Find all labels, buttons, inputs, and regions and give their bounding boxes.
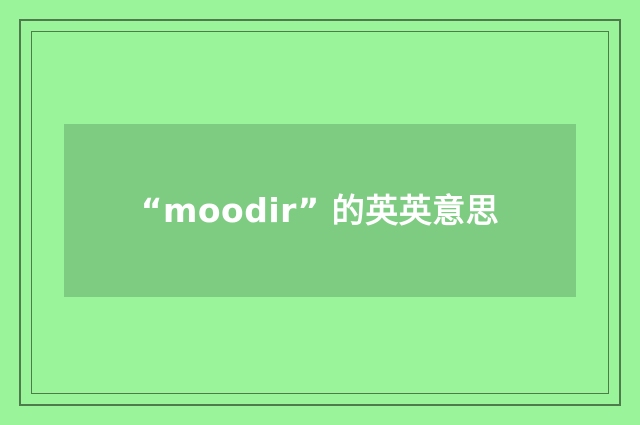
- page-canvas: “moodir” 的英英意思: [0, 0, 640, 425]
- headline-text: “moodir” 的英英意思: [141, 184, 499, 237]
- headline-card: “moodir” 的英英意思: [64, 124, 576, 297]
